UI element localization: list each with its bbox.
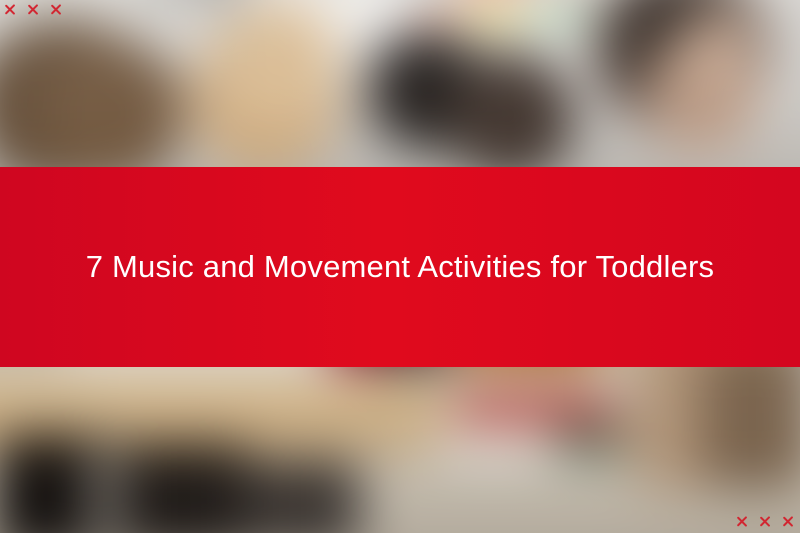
photo-paper-shape-green — [536, 0, 582, 26]
photo-child-head-brown-inner — [36, 36, 186, 186]
photo-white-papers — [436, 426, 556, 462]
photo-paper-shape-orange — [422, 0, 460, 24]
photo-child-head-dark-2 — [446, 50, 576, 180]
photo-chair-gap — [92, 440, 118, 533]
title-banner: 7 Music and Movement Activities for Todd… — [0, 167, 800, 367]
photo-child-face-right-highlight — [684, 0, 762, 90]
close-x-icon — [736, 515, 749, 528]
photo-chair-3 — [240, 460, 360, 533]
close-x-icon — [759, 515, 772, 528]
close-x-icon — [27, 3, 40, 16]
page-title: 7 Music and Movement Activities for Todd… — [62, 248, 739, 285]
photo-table-highlight — [0, 378, 440, 400]
close-x-icon — [4, 3, 17, 16]
close-x-icon — [782, 515, 795, 528]
x-marks-top-left — [4, 3, 63, 16]
x-marks-bottom-right — [736, 515, 795, 528]
photo-chair-2 — [120, 444, 250, 533]
featured-image-card: 7 Music and Movement Activities for Todd… — [0, 0, 800, 533]
close-x-icon — [50, 3, 63, 16]
photo-paper-shape-yellow — [472, 0, 518, 28]
photo-child-head-blonde-inner — [218, 0, 338, 130]
